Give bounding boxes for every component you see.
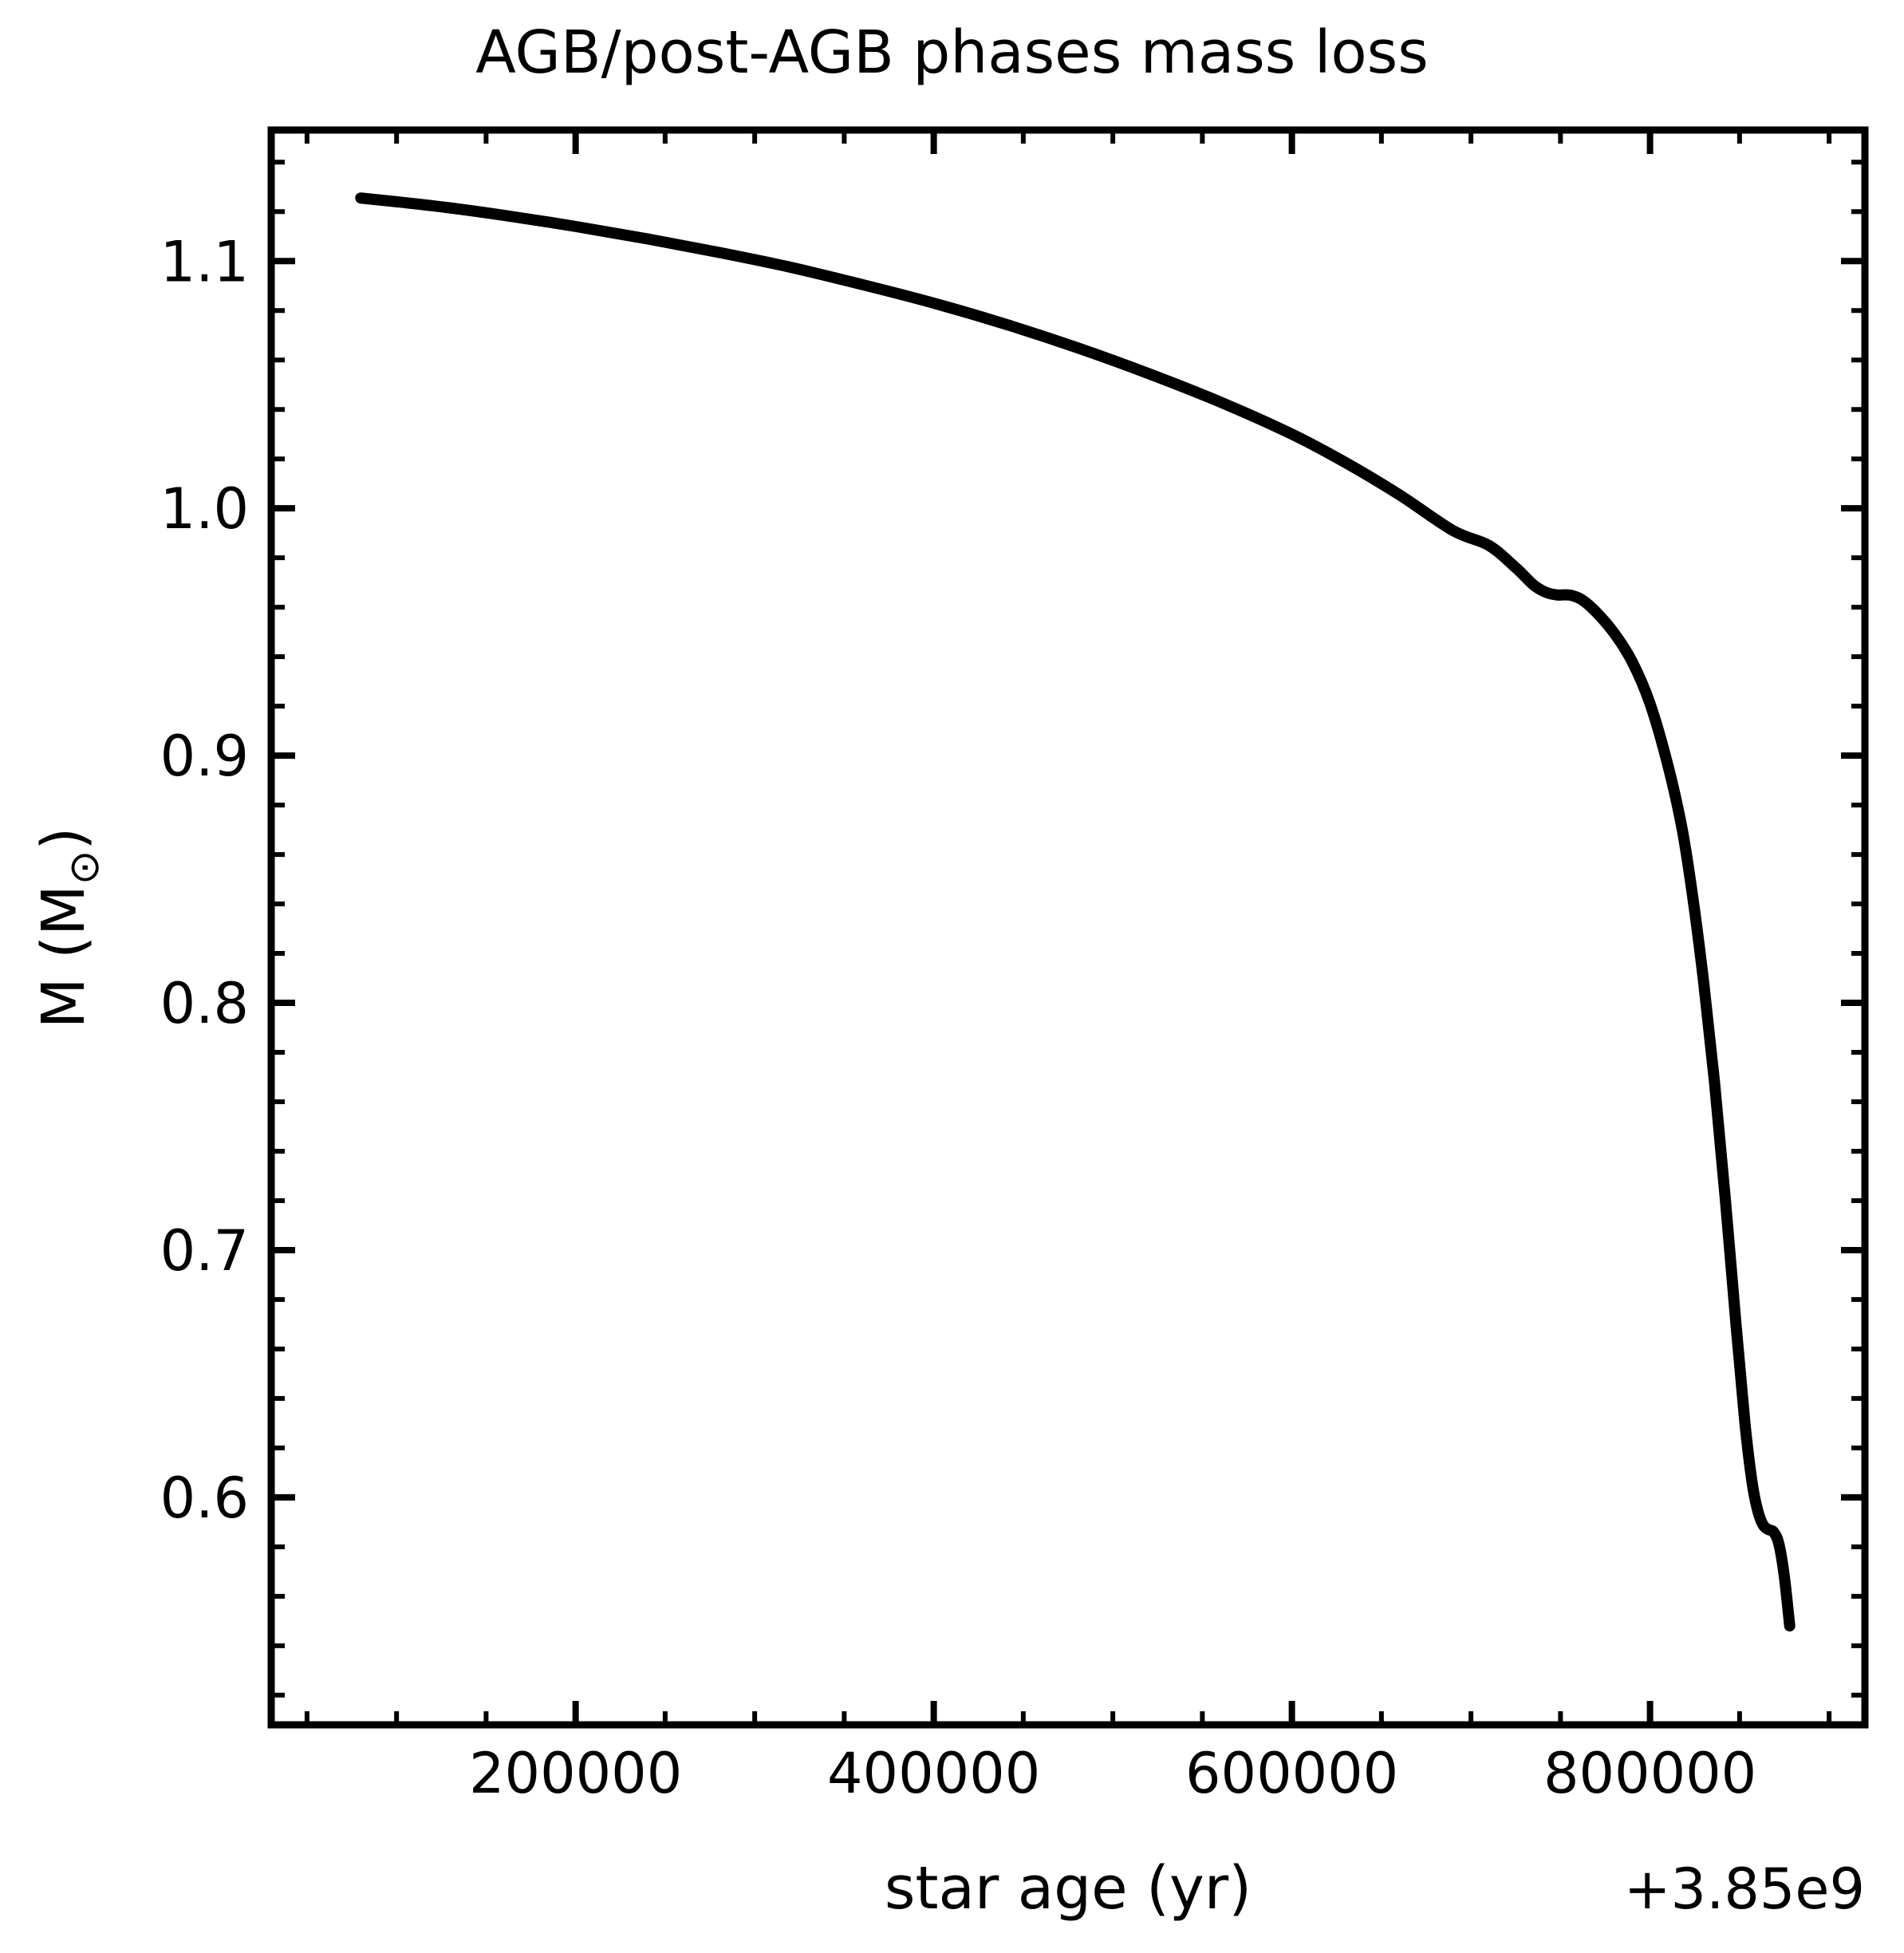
figure-canvas: AGB/post-AGB phases mass loss 0.60.70.80… (0, 0, 1904, 1953)
y-tick-label: 1.1 (160, 229, 249, 294)
x-tick-label: 400000 (827, 1741, 1040, 1806)
y-tick-label: 0.8 (160, 971, 249, 1036)
y-axis-title: M (M⊙) (30, 827, 108, 1029)
axes-frame (271, 130, 1865, 1725)
x-axis-ticks (307, 130, 1829, 1725)
x-tick-label: 800000 (1543, 1741, 1756, 1806)
y-axis-ticks (271, 162, 1865, 1695)
x-axis-tick-labels: 200000400000600000800000 (469, 1741, 1756, 1806)
x-axis-offset-text: +3.85e9 (1624, 1856, 1865, 1922)
mass-loss-curve (361, 198, 1789, 1626)
y-axis-tick-labels: 0.60.70.80.91.01.1 (160, 229, 249, 1531)
plot-area-svg: 0.60.70.80.91.01.1 200000400000600000800… (0, 0, 1904, 1953)
x-tick-label: 600000 (1185, 1741, 1398, 1806)
y-tick-label: 0.7 (160, 1218, 249, 1284)
x-tick-label: 200000 (469, 1741, 682, 1806)
y-tick-label: 0.9 (160, 724, 249, 789)
y-tick-label: 0.6 (160, 1466, 249, 1531)
x-axis-title: star age (yr) (885, 1854, 1252, 1923)
y-tick-label: 1.0 (160, 476, 249, 542)
